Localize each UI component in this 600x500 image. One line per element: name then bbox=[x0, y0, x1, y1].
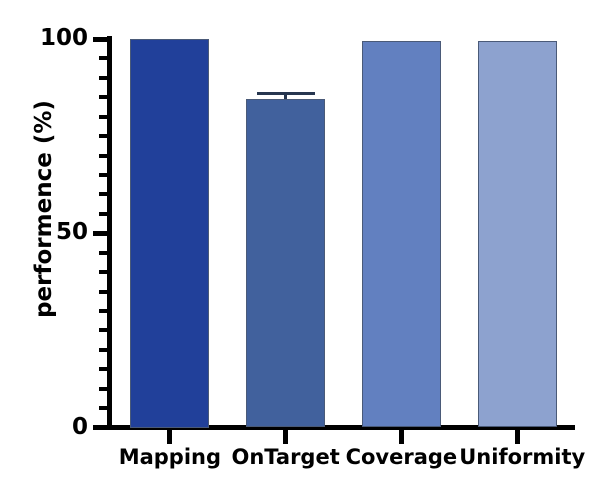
bar-ontarget bbox=[246, 99, 325, 427]
y-axis-title: performence (%) bbox=[31, 89, 57, 329]
y-tick-minor bbox=[99, 270, 110, 274]
bar-uniformity bbox=[478, 41, 557, 427]
bar-chart-figure: performence (%) 050100 MappingOnTargetCo… bbox=[0, 0, 600, 500]
y-tick-minor bbox=[99, 154, 110, 158]
y-tick-label: 100 bbox=[10, 27, 88, 50]
bar-coverage bbox=[362, 41, 441, 428]
x-axis-label-mapping: Mapping bbox=[112, 447, 228, 468]
x-tick-ontarget bbox=[283, 428, 288, 444]
y-tick-label: 0 bbox=[10, 416, 88, 439]
y-tick-minor bbox=[99, 406, 110, 410]
y-tick-minor bbox=[99, 212, 110, 216]
y-tick-major bbox=[93, 37, 110, 42]
y-tick-minor bbox=[99, 76, 110, 80]
x-tick-mapping bbox=[167, 428, 172, 444]
y-tick-minor bbox=[99, 251, 110, 255]
y-tick-minor bbox=[99, 290, 110, 294]
x-tick-uniformity bbox=[515, 428, 520, 444]
y-tick-minor bbox=[99, 387, 110, 391]
y-tick-minor bbox=[99, 95, 110, 99]
y-tick-label: 50 bbox=[10, 221, 88, 244]
y-tick-minor bbox=[99, 192, 110, 196]
bar-mapping bbox=[130, 39, 209, 428]
error-bar-cap-ontarget bbox=[257, 92, 315, 95]
y-tick-minor bbox=[99, 367, 110, 371]
y-tick-major bbox=[93, 425, 110, 430]
y-tick-minor bbox=[99, 328, 110, 332]
x-axis-label-uniformity: Uniformity bbox=[459, 447, 575, 468]
x-tick-coverage bbox=[399, 428, 404, 444]
y-tick-minor bbox=[99, 134, 110, 138]
x-axis-label-coverage: Coverage bbox=[344, 447, 460, 468]
y-tick-minor bbox=[99, 115, 110, 119]
y-tick-minor bbox=[99, 56, 110, 60]
x-axis-label-ontarget: OnTarget bbox=[228, 447, 344, 468]
y-tick-minor bbox=[99, 309, 110, 313]
y-tick-minor bbox=[99, 173, 110, 177]
y-tick-minor bbox=[99, 348, 110, 352]
y-tick-major bbox=[93, 231, 110, 236]
